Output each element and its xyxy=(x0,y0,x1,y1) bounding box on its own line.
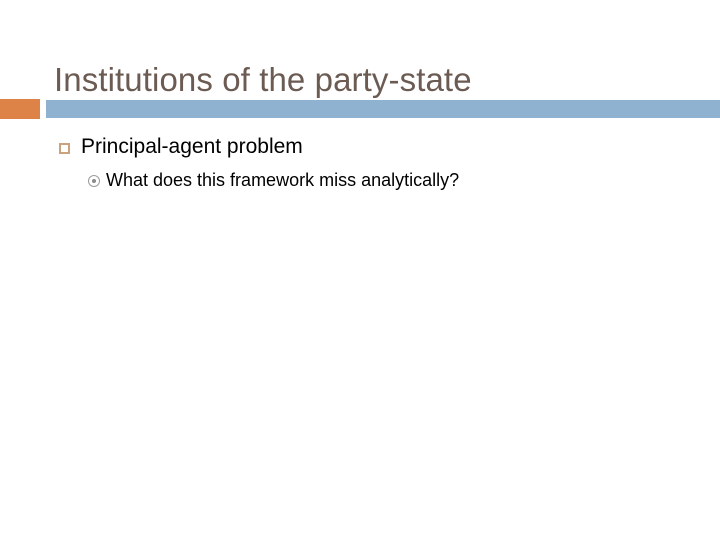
list-item: Principal-agent problem xyxy=(0,132,720,162)
hollow-square-bullet-icon xyxy=(59,143,70,154)
slide-body: Principal-agent problem What does this f… xyxy=(0,132,720,194)
title-divider xyxy=(0,99,720,119)
divider-rule-bar-icon xyxy=(46,100,720,118)
bullet-text-level-1: Principal-agent problem xyxy=(81,132,303,162)
divider-accent-block-icon xyxy=(0,99,40,119)
list-item: What does this framework miss analytical… xyxy=(0,167,720,194)
presentation-slide: Institutions of the party-state Principa… xyxy=(0,0,720,540)
page-title: Institutions of the party-state xyxy=(54,59,694,101)
bullet-text-level-2: What does this framework miss analytical… xyxy=(106,167,459,194)
fisheye-circle-bullet-icon xyxy=(88,175,100,187)
bullet-dot xyxy=(92,179,96,183)
